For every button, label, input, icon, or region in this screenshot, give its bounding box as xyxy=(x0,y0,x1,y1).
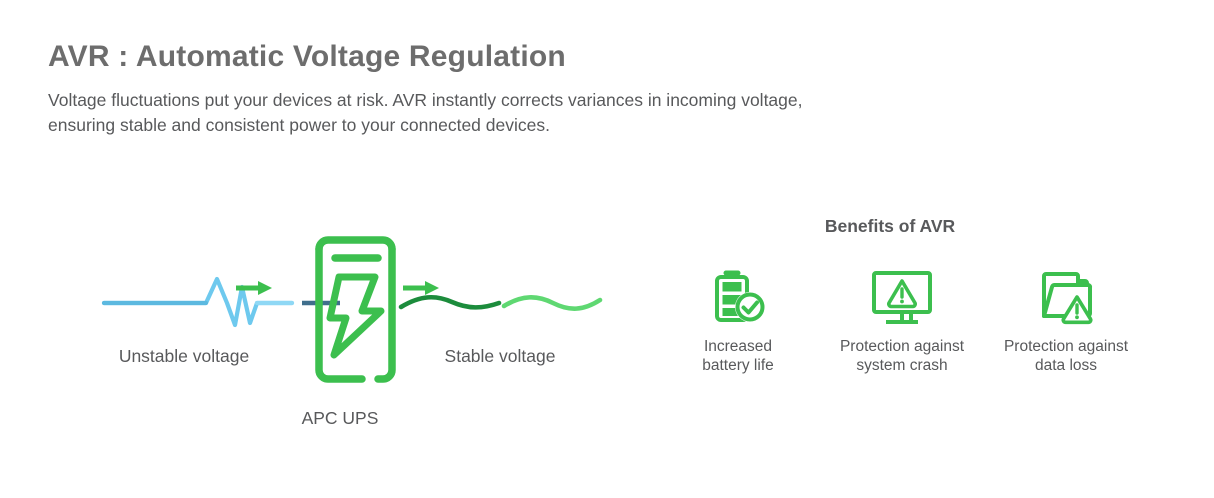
arrow-right-icon xyxy=(403,281,439,295)
monitor-warning-icon xyxy=(865,268,939,326)
benefit-caption: Protection against system crash xyxy=(840,337,964,375)
benefit-item: Protection against data loss xyxy=(990,268,1142,375)
benefit-icon-wrap xyxy=(865,268,939,326)
benefits-title: Benefits of AVR xyxy=(662,215,1118,237)
ups-device-icon xyxy=(319,240,392,379)
battery-check-icon xyxy=(706,268,770,326)
stable-waveform-icon xyxy=(401,297,600,308)
benefit-icon-wrap xyxy=(706,268,770,326)
stable-voltage-label: Stable voltage xyxy=(390,346,610,367)
page-title: AVR : Automatic Voltage Regulation xyxy=(48,38,948,76)
folder-warning-icon xyxy=(1031,268,1101,326)
benefit-caption: Increased battery life xyxy=(702,337,774,375)
header: AVR : Automatic Voltage Regulation Volta… xyxy=(48,38,948,138)
unstable-voltage-label: Unstable voltage xyxy=(90,346,278,367)
benefits-list: Increased battery life Pr xyxy=(662,268,1182,375)
apc-ups-label: APC UPS xyxy=(240,408,440,429)
benefit-caption: Protection against data loss xyxy=(1004,337,1128,375)
avr-flow-diagram: Unstable voltage Stable voltage APC UPS xyxy=(90,215,630,445)
benefit-item: Increased battery life xyxy=(662,268,814,375)
page-subtitle: Voltage fluctuations put your devices at… xyxy=(48,88,838,138)
benefit-icon-wrap xyxy=(1031,268,1101,326)
benefits-section: Benefits of AVR xyxy=(662,215,1182,375)
benefit-item: Protection against system crash xyxy=(826,268,978,375)
